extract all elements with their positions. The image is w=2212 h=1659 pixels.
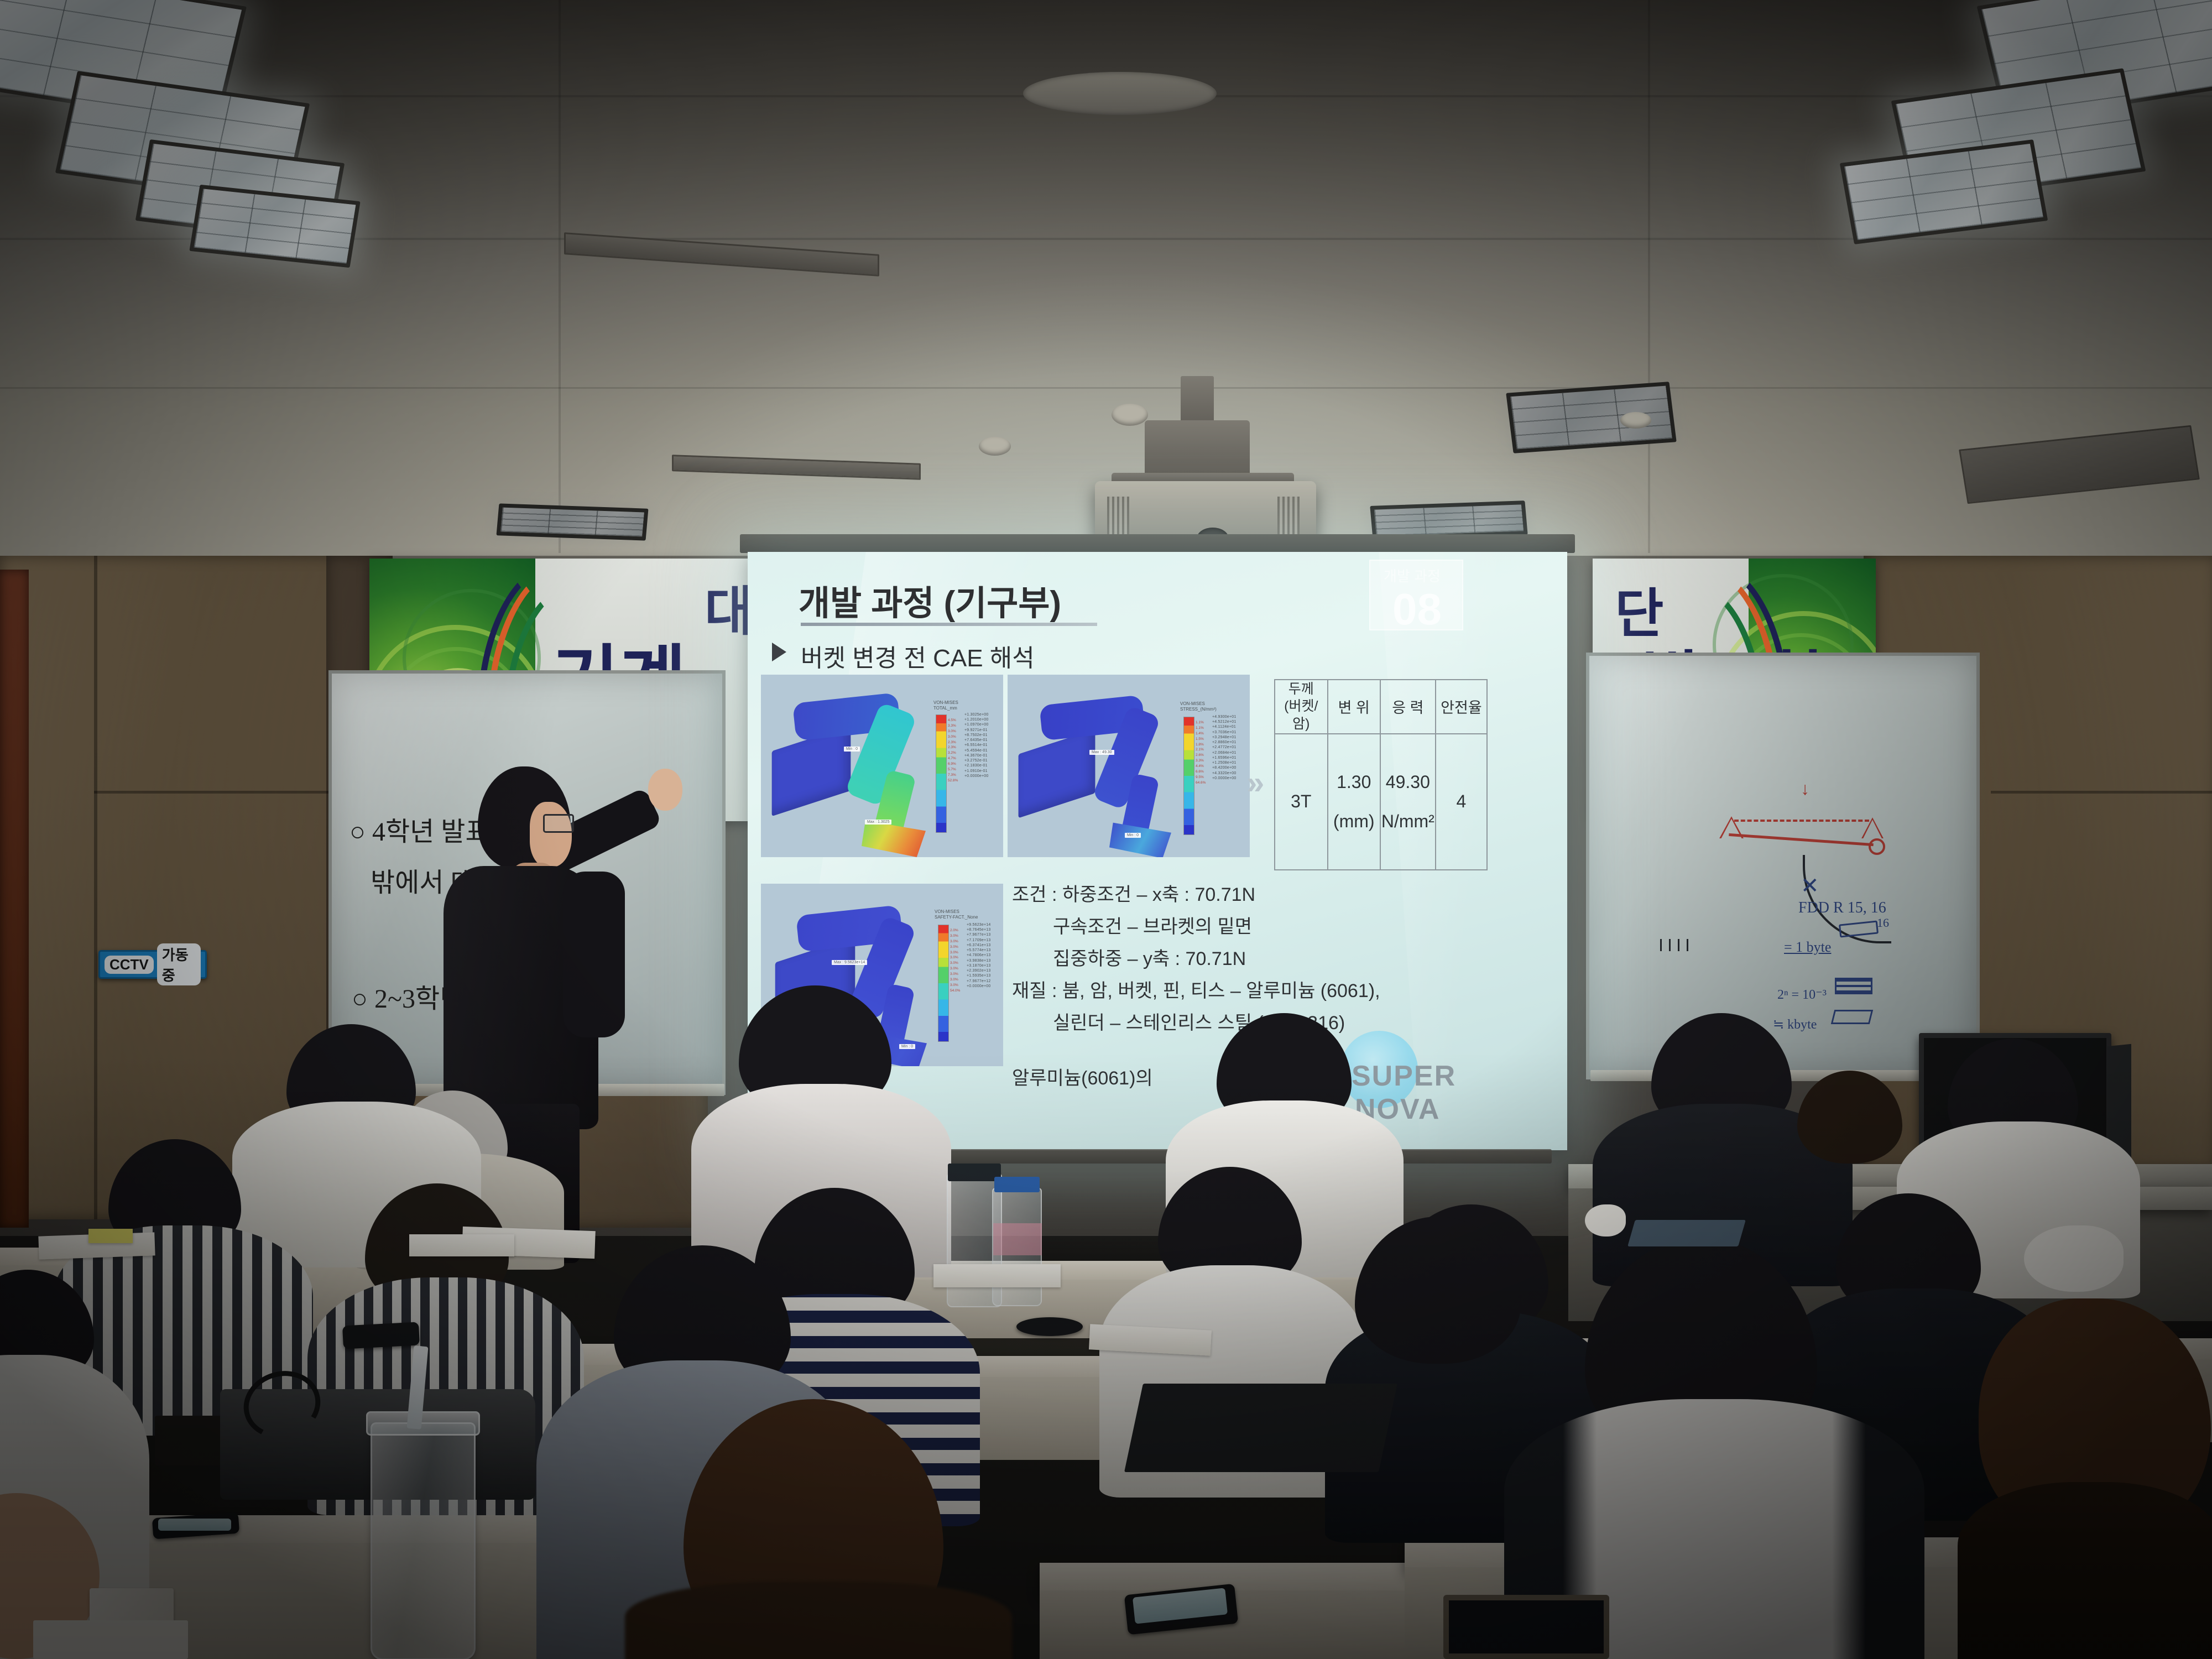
whiteboard-sketch-dashed — [1734, 820, 1869, 822]
chevron-right-icon: » — [1246, 764, 1258, 801]
cctv-label-line1: CCTV — [105, 956, 154, 974]
wood-panel-seam — [1991, 791, 2212, 794]
laptop[interactable] — [1124, 1384, 1397, 1472]
wood-panel-seam — [94, 556, 97, 1219]
crumpled-tissue[interactable] — [2024, 1225, 2124, 1292]
presenter-face — [530, 802, 572, 867]
ceiling-light-panel — [496, 503, 648, 540]
audience-torso — [1958, 1482, 2212, 1659]
whiteboard-right[interactable]: ↓ ✕ FDD R 15, 16 = 1 byte 16 2ⁿ = 10⁻³ ≒… — [1586, 653, 1980, 1079]
slide-condition-line-3: 집중하중 – y축 : 70.71N — [1053, 943, 1246, 971]
wood-panel-seam — [94, 791, 354, 794]
whiteboard-sketch-hatch — [1660, 939, 1695, 951]
cctv-label-line2: 가동 중 — [157, 943, 201, 985]
tumbler[interactable] — [371, 1422, 476, 1659]
tablet-device[interactable] — [1443, 1595, 1609, 1659]
handout-paper-near[interactable] — [33, 1620, 188, 1659]
sticky-note[interactable] — [88, 1229, 133, 1243]
whiteboard-right-note-1: FDD R 15, 16 — [1798, 899, 1886, 917]
seminar-room-photo: CCTV 가동 중 기계 · 자 대 주최 : 대구대 단 발표회 한국연구재단 — [0, 0, 2212, 1659]
computer-mouse[interactable] — [1016, 1317, 1083, 1336]
sprinkler-head — [979, 437, 1011, 456]
smartphone[interactable] — [342, 1322, 420, 1349]
whiteboard-sketch-box-2 — [1835, 978, 1872, 994]
handout-paper[interactable] — [409, 1234, 514, 1256]
whiteboard-sketch-support-left — [1729, 792, 1751, 814]
slide-condition-line-1: 조건 : 하중조건 – x축 : 70.71N — [1012, 879, 1255, 906]
presenter-hand — [648, 769, 682, 811]
bottle-cap[interactable] — [994, 1177, 1040, 1192]
slide-trailing-line: 알루미늄(6061)의 — [1012, 1063, 1153, 1090]
banner-left-edge-char: 대 — [705, 568, 753, 645]
table-cell-stress: 49.30 N/mm² — [1380, 734, 1436, 870]
bottle-label — [993, 1223, 1042, 1255]
slide-title-underline — [801, 623, 1097, 626]
results-table: 두께 (버켓/암) 변 위 응 력 안전율 3T 1.30 (mm) 49.30… — [1274, 679, 1488, 870]
tumbler-lid[interactable] — [366, 1411, 480, 1436]
crumpled-tissue[interactable] — [1585, 1204, 1626, 1237]
ceiling-tile-seam — [559, 0, 561, 553]
whiteboard-right-note-5: 16 — [1877, 916, 1889, 930]
whiteboard-right-note-4: ≒ kbyte — [1773, 1016, 1817, 1032]
projection-screen-housing — [740, 534, 1575, 553]
table-cell-thickness: 3T — [1275, 734, 1328, 870]
table-cell-safety: 4 — [1436, 734, 1487, 870]
table-header-safety: 안전율 — [1436, 680, 1487, 734]
presenter-arm — [563, 872, 625, 1037]
slide-number-caption: 개발 과정 — [1384, 565, 1441, 586]
table-header-stress: 응 력 — [1380, 680, 1436, 734]
ceiling-speaker — [1023, 72, 1217, 115]
fea-panel-displacement: VON-MISES TOTAL_mm 4.5% 3.3% 3.0% 3.0% 2… — [761, 675, 1003, 857]
sprinkler-head — [1112, 404, 1148, 426]
handout-paper[interactable] — [933, 1264, 1061, 1287]
bullet-arrow-icon — [772, 643, 786, 661]
tablet-device[interactable] — [1627, 1220, 1746, 1246]
watermark-line-1: SUPER — [1352, 1060, 1456, 1093]
slide-material-line-1: 재질 : 붐, 암, 버켓, 핀, 티스 – 알루미늄 (6061), — [1012, 975, 1380, 1003]
slide-number: 08 — [1392, 584, 1442, 635]
whiteboard-sketch-box-3 — [1831, 1010, 1873, 1024]
ceiling-tile-seam — [1648, 0, 1650, 553]
cctv-notice-placard: CCTV 가동 중 — [98, 950, 207, 979]
slide-condition-line-2: 구속조건 – 브라켓의 밑면 — [1053, 911, 1252, 938]
whiteboard-sketch-roller — [1869, 838, 1885, 855]
ceiling-tile-seam — [0, 387, 2212, 389]
audience-shoulders — [625, 1582, 1012, 1659]
table-header-thickness: 두께 (버켓/암) — [1275, 680, 1328, 734]
table-header-row: 두께 (버켓/암) 변 위 응 력 안전율 — [1275, 680, 1487, 734]
smartphone-screen — [158, 1519, 231, 1531]
table-header-displacement: 변 위 — [1328, 680, 1380, 734]
table-row: 3T 1.30 (mm) 49.30 N/mm² 4 — [1275, 734, 1487, 870]
whiteboard-sketch-cross: ✕ — [1801, 873, 1819, 899]
ceiling-light-panel — [1506, 382, 1677, 453]
fea-panel-stress: VON-MISES STRESS_(N/mm²) 1.1% 1.1% 1.4% … — [1008, 675, 1250, 857]
bottle-cap[interactable] — [948, 1164, 1001, 1181]
slide-title: 개발 과정 (기구부) — [799, 575, 1061, 625]
whiteboard-sketch-load-label: ↓ — [1801, 779, 1809, 799]
slide-subtitle: 버켓 변경 전 CAE 해석 — [801, 638, 1035, 674]
whiteboard-right-note-3: 2ⁿ = 10⁻³ — [1777, 987, 1827, 1003]
sprinkler-head — [1620, 412, 1651, 429]
door-frame — [0, 570, 29, 1228]
eyeglasses-icon — [543, 814, 574, 833]
table-cell-displacement: 1.30 (mm) — [1328, 734, 1380, 870]
whiteboard-right-note-2: = 1 byte — [1784, 939, 1831, 956]
